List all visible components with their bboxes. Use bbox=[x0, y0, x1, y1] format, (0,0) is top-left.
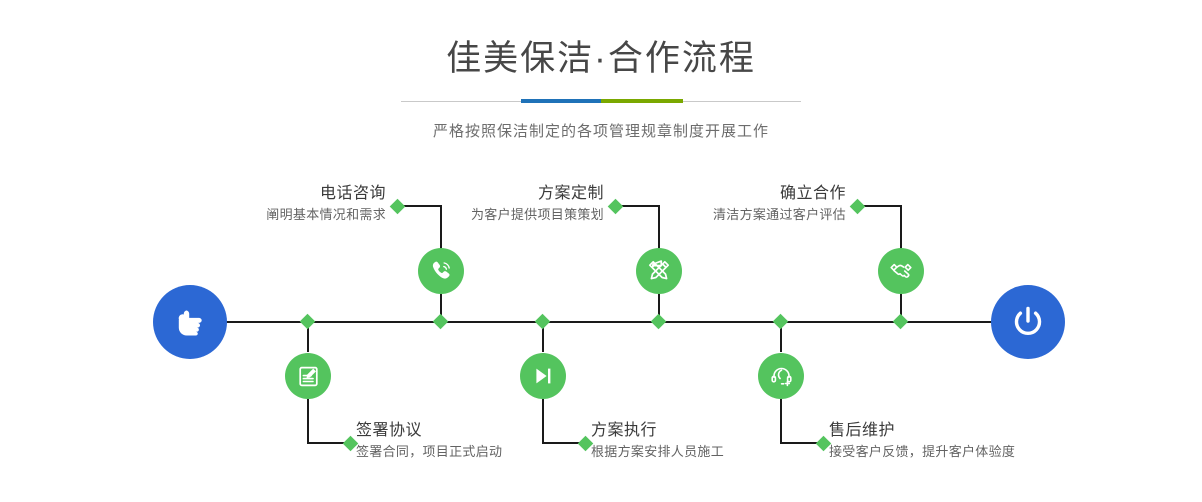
step-6-axis-diamond bbox=[773, 314, 789, 330]
document-edit-icon bbox=[296, 364, 321, 389]
process-flow-infographic: 佳美保洁·合作流程 严格按照保洁制定的各项管理规章制度开展工作 bbox=[0, 0, 1202, 502]
page-subtitle: 严格按照保洁制定的各项管理规章制度开展工作 bbox=[0, 120, 1202, 141]
step-3-axis-diamond bbox=[651, 314, 667, 330]
flow-diagram: 电话咨询 阐明基本情况和需求 签署协议 签署合同，项目正式启动 bbox=[0, 150, 1202, 502]
flow-end-node bbox=[991, 285, 1065, 359]
step-2-axis-diamond bbox=[300, 314, 316, 330]
step-2-title: 签署协议 bbox=[356, 421, 616, 441]
step-1-desc: 阐明基本情况和需求 bbox=[140, 204, 386, 226]
page-title: 佳美保洁·合作流程 bbox=[0, 0, 1202, 80]
step-6-desc: 接受客户反馈，提升客户体验度 bbox=[829, 441, 1129, 463]
step-4-desc: 根据方案安排人员施工 bbox=[591, 441, 851, 463]
step-6-label: 售后维护 接受客户反馈，提升客户体验度 bbox=[829, 421, 1129, 463]
pencil-ruler-icon bbox=[646, 258, 672, 284]
play-forward-icon bbox=[531, 364, 555, 388]
page-header: 佳美保洁·合作流程 严格按照保洁制定的各项管理规章制度开展工作 bbox=[0, 0, 1202, 141]
title-divider bbox=[401, 96, 801, 108]
step-1-icon-node bbox=[418, 248, 464, 294]
customer-service-add-icon bbox=[769, 364, 794, 389]
handshake-icon bbox=[888, 258, 914, 284]
step-5-icon-node bbox=[878, 248, 924, 294]
step-2-desc: 签署合同，项目正式启动 bbox=[356, 441, 616, 463]
step-3-icon-node bbox=[636, 248, 682, 294]
step-5-desc: 清洁方案通过客户评估 bbox=[600, 204, 846, 226]
divider-segment-green bbox=[601, 99, 683, 103]
step-1-axis-diamond bbox=[433, 314, 449, 330]
phone-call-icon bbox=[428, 258, 454, 284]
step-2-icon-node bbox=[285, 353, 331, 399]
step-1-label: 电话咨询 阐明基本情况和需求 bbox=[140, 184, 386, 226]
step-4-axis-diamond bbox=[535, 314, 551, 330]
step-4-title: 方案执行 bbox=[591, 421, 851, 441]
step-5-title: 确立合作 bbox=[600, 184, 846, 204]
step-5-axis-diamond bbox=[893, 314, 909, 330]
flow-start-node bbox=[153, 285, 227, 359]
step-4-connector-vertical-lower bbox=[542, 399, 544, 443]
step-6-icon-node bbox=[758, 353, 804, 399]
step-6-title: 售后维护 bbox=[829, 421, 1129, 441]
step-2-connector-vertical-lower bbox=[307, 399, 309, 443]
divider-segment-blue bbox=[521, 99, 601, 103]
pointing-hand-icon bbox=[170, 302, 210, 342]
power-icon bbox=[1007, 301, 1049, 343]
step-5-label-diamond bbox=[850, 199, 866, 215]
step-1-title: 电话咨询 bbox=[140, 184, 386, 204]
step-4-icon-node bbox=[520, 353, 566, 399]
step-6-connector-vertical-lower bbox=[780, 399, 782, 443]
